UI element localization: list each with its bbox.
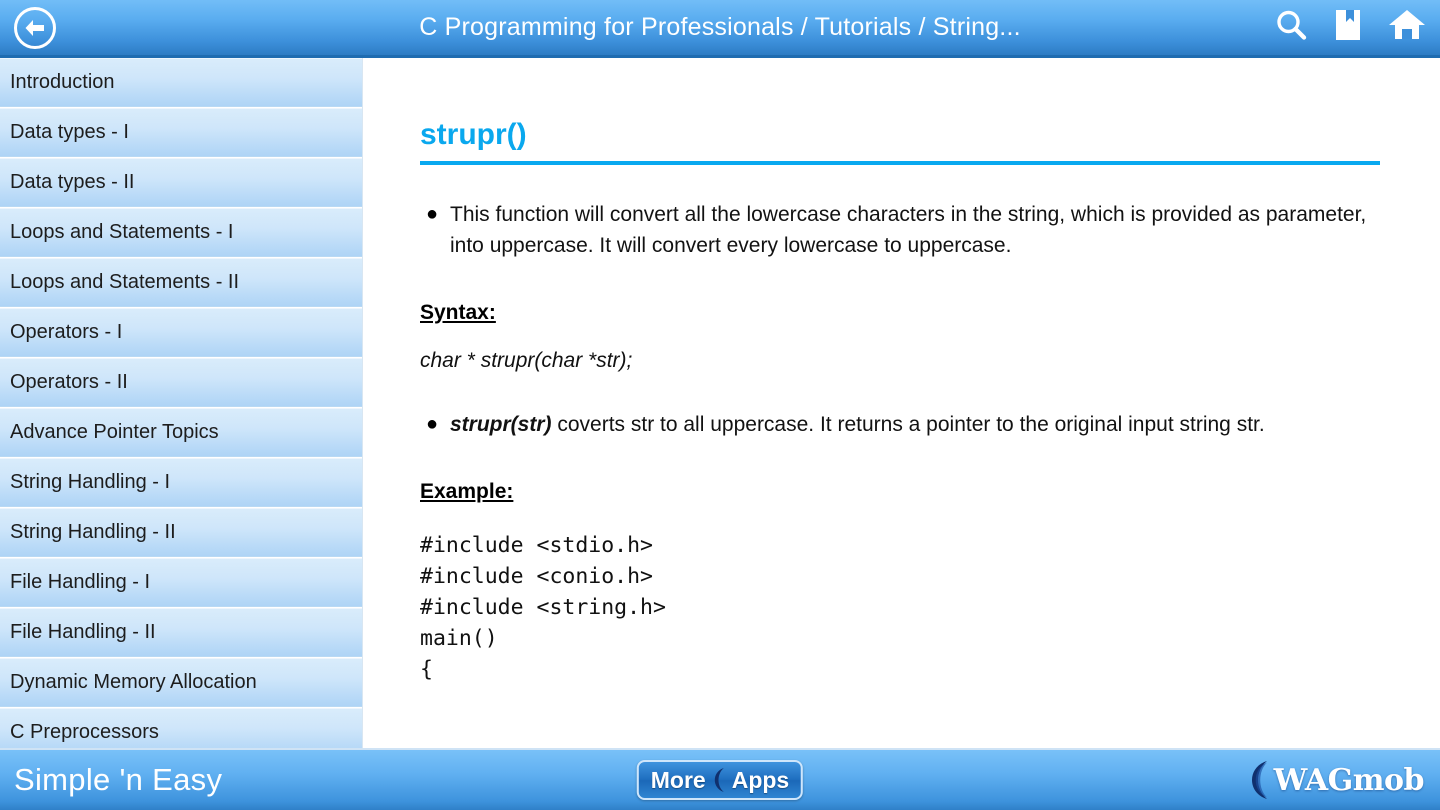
sidebar-item-label: File Handling - I — [10, 571, 150, 594]
sidebar-item-label: String Handling - II — [10, 521, 176, 544]
sidebar-item-c-preprocessors[interactable]: C Preprocessors — [0, 708, 362, 748]
back-button[interactable] — [14, 7, 56, 49]
bullet-rest-text: coverts str to all uppercase. It returns… — [552, 413, 1265, 436]
more-apps-apps-label: Apps — [732, 767, 790, 794]
content-pane: strupr() ● This function will convert al… — [363, 58, 1440, 748]
sidebar-item-data-types-2[interactable]: Data types - II — [0, 158, 362, 207]
sidebar-item-label: String Handling - I — [10, 471, 170, 494]
syntax-code-line: char * strupr(char *str); — [420, 349, 1380, 373]
syntax-section-label: Syntax: — [420, 301, 496, 325]
sidebar-item-label: File Handling - II — [10, 621, 156, 644]
sidebar-item-label: Operators - II — [10, 371, 128, 394]
sidebar-item-label: Loops and Statements - I — [10, 221, 233, 244]
sidebar-item-operators-2[interactable]: Operators - II — [0, 358, 362, 407]
heading-divider — [420, 161, 1380, 165]
bullet-dot-icon: ● — [420, 409, 450, 440]
back-arrow-icon — [23, 17, 47, 39]
bookmark-button[interactable] — [1332, 8, 1364, 47]
app-root: C Programming for Professionals / Tutori… — [0, 0, 1440, 810]
more-apps-more-label: More — [651, 767, 706, 794]
sidebar-item-operators-1[interactable]: Operators - I — [0, 308, 362, 357]
sidebar-item-label: Operators - I — [10, 321, 122, 344]
bullet-text: strupr(str) coverts str to all uppercase… — [450, 409, 1265, 440]
more-apps-button[interactable]: More Apps — [637, 760, 803, 800]
sidebar-item-loops-and-statements-2[interactable]: Loops and Statements - II — [0, 258, 362, 307]
home-icon — [1388, 8, 1426, 47]
top-bar-actions — [1274, 8, 1426, 47]
body-area: Introduction Data types - I Data types -… — [0, 58, 1440, 748]
wagmob-wordmark: WAGmob — [1274, 763, 1424, 798]
sidebar-item-file-handling-1[interactable]: File Handling - I — [0, 558, 362, 607]
sidebar-item-introduction[interactable]: Introduction — [0, 58, 362, 107]
sidebar-item-label: Dynamic Memory Allocation — [10, 671, 257, 694]
example-code-block: #include <stdio.h> #include <conio.h> #i… — [420, 530, 1380, 685]
sidebar-item-advance-pointer-topics[interactable]: Advance Pointer Topics — [0, 408, 362, 457]
sidebar-item-data-types-1[interactable]: Data types - I — [0, 108, 362, 157]
wagmob-logo[interactable]: WAGmob — [1243, 759, 1432, 801]
sidebar-item-dynamic-memory-allocation[interactable]: Dynamic Memory Allocation — [0, 658, 362, 707]
search-icon — [1274, 8, 1308, 47]
bullet-text: This function will convert all the lower… — [450, 199, 1380, 261]
sidebar-item-label: Data types - II — [10, 171, 135, 194]
bullet-dot-icon: ● — [420, 199, 450, 230]
search-button[interactable] — [1274, 8, 1308, 47]
bullet-item-description: ● This function will convert all the low… — [420, 199, 1380, 261]
bullet-item-returns: ● strupr(str) coverts str to all upperca… — [420, 409, 1380, 440]
sidebar-item-label: Data types - I — [10, 121, 129, 144]
content-heading: strupr() — [420, 118, 1380, 157]
sidebar-item-loops-and-statements-1[interactable]: Loops and Statements - I — [0, 208, 362, 257]
crescent-icon — [708, 767, 730, 793]
page-title: C Programming for Professionals / Tutori… — [0, 13, 1440, 42]
home-button[interactable] — [1388, 8, 1426, 47]
sidebar-item-label: Loops and Statements - II — [10, 271, 239, 294]
sidebar-item-file-handling-2[interactable]: File Handling - II — [0, 608, 362, 657]
footer-bar: Simple 'n Easy More Apps WAGmob — [0, 748, 1440, 810]
sidebar-item-label: Introduction — [10, 71, 115, 94]
wagmob-crescent-icon — [1243, 759, 1273, 801]
sidebar-item-label: Advance Pointer Topics — [10, 421, 219, 444]
bullet-bold-term: strupr(str) — [450, 413, 552, 436]
footer-tagline: Simple 'n Easy — [14, 762, 222, 798]
top-bar: C Programming for Professionals / Tutori… — [0, 0, 1440, 58]
bookmark-icon — [1332, 8, 1364, 47]
sidebar-nav[interactable]: Introduction Data types - I Data types -… — [0, 58, 363, 748]
sidebar-item-label: C Preprocessors — [10, 721, 159, 744]
sidebar-item-string-handling-2[interactable]: String Handling - II — [0, 508, 362, 557]
sidebar-item-string-handling-1[interactable]: String Handling - I — [0, 458, 362, 507]
example-section-label: Example: — [420, 480, 513, 504]
